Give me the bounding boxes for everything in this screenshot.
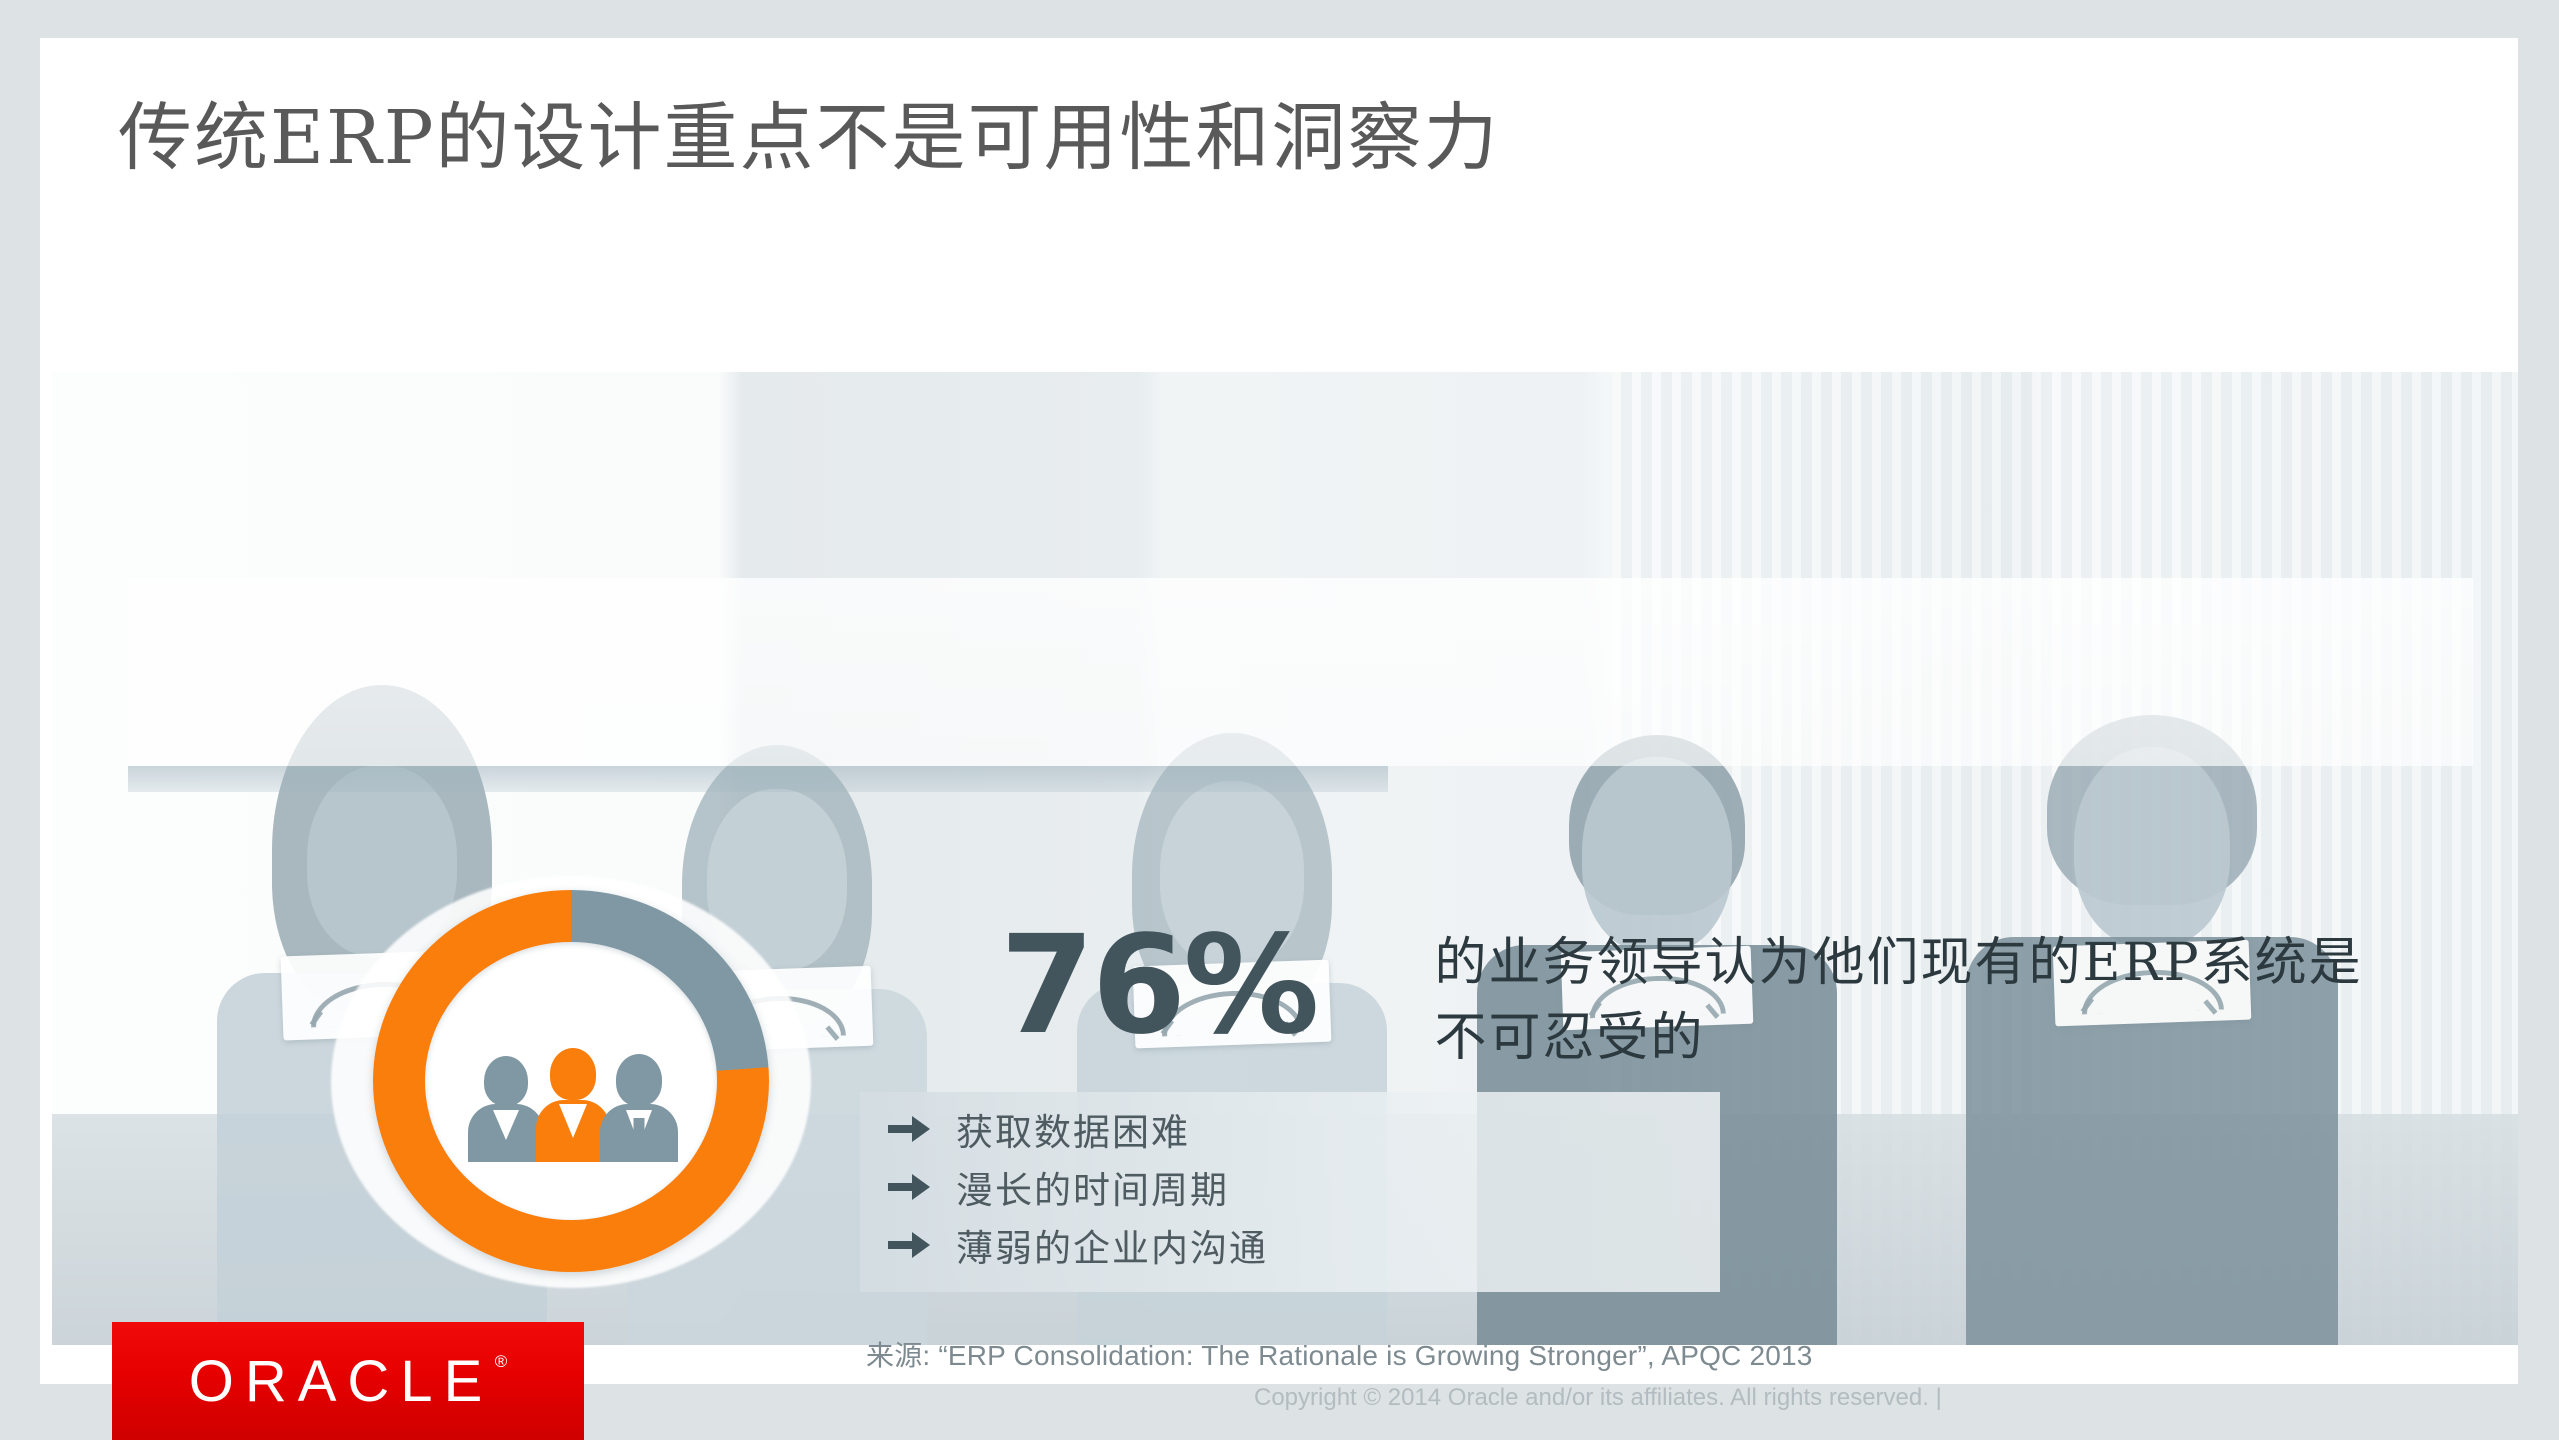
bullet-label: 漫长的时间周期 xyxy=(956,1160,1229,1214)
oracle-wordmark: ORACLE® xyxy=(189,1348,508,1415)
oracle-wordmark-text: ORACLE xyxy=(189,1349,494,1414)
registered-trademark-icon: ® xyxy=(495,1352,508,1372)
source-citation: 来源: “ERP Consolidation: The Rationale is… xyxy=(866,1334,1813,1374)
person-female-icon xyxy=(468,1050,544,1162)
page-title: 传统ERP的设计重点不是可用性和洞察力 xyxy=(118,96,1500,181)
bullet-list: 获取数据困难 漫长的时间周期 薄弱的企业内沟通 xyxy=(888,1100,1708,1274)
list-item: 漫长的时间周期 xyxy=(888,1158,1708,1216)
stat-callout: 76% 的业务领导认为他们现有的ERP系统是不可忍受的 xyxy=(1000,918,2395,1077)
person-necktie xyxy=(634,1118,645,1162)
person-collar xyxy=(559,1104,587,1138)
person-collar xyxy=(493,1110,519,1140)
list-item: 获取数据困难 xyxy=(888,1100,1708,1158)
photo-person-head xyxy=(2074,747,2230,947)
donut-chart xyxy=(325,876,821,1296)
person-head xyxy=(550,1048,596,1100)
person-center-icon xyxy=(536,1036,610,1162)
arrow-right-icon xyxy=(888,1232,930,1258)
stat-banner xyxy=(128,578,2473,766)
arrow-right-icon xyxy=(888,1174,930,1200)
stat-description: 的业务领导认为他们现有的ERP系统是不可忍受的 xyxy=(1435,918,2395,1077)
copyright-text: Copyright © 2014 Oracle and/or its affil… xyxy=(1254,1384,1942,1412)
bullet-label: 薄弱的企业内沟通 xyxy=(956,1218,1268,1272)
stat-percent: 76% xyxy=(1000,918,1317,1054)
person-male-icon xyxy=(600,1050,678,1162)
person-head xyxy=(616,1054,662,1106)
list-item: 薄弱的企业内沟通 xyxy=(888,1216,1708,1274)
oracle-logo: ORACLE® xyxy=(112,1322,584,1440)
slide-canvas: 传统ERP的设计重点不是可用性和洞察力 xyxy=(0,0,2559,1440)
person-head xyxy=(484,1056,528,1106)
arrow-right-icon xyxy=(888,1116,930,1142)
three-people-icon xyxy=(468,1036,678,1162)
stat-banner-fold xyxy=(128,766,1388,792)
slide-sheet: 传统ERP的设计重点不是可用性和洞察力 xyxy=(40,38,2518,1384)
bullet-label: 获取数据困难 xyxy=(956,1102,1190,1156)
